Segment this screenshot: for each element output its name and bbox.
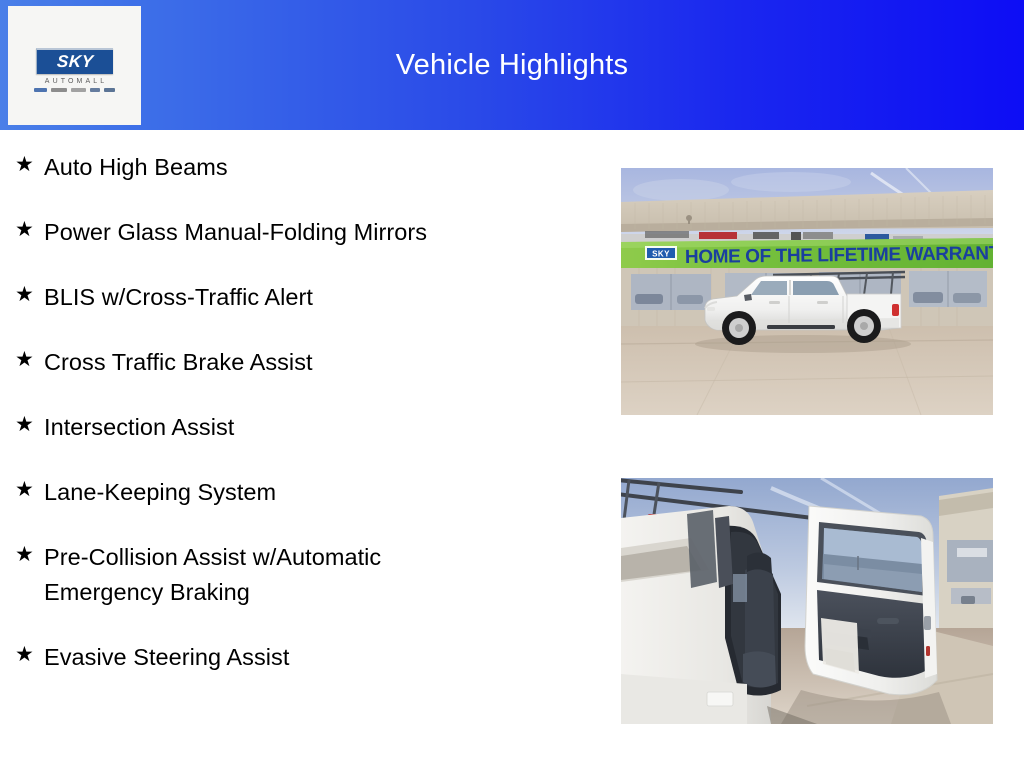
warranty-banner: SKY HOME OF THE LIFETIME WARRANTY bbox=[621, 238, 993, 272]
dodge-logo-icon bbox=[71, 88, 86, 92]
list-item-label: BLIS w/Cross-Traffic Alert bbox=[44, 280, 313, 315]
star-icon: ★ bbox=[10, 540, 44, 569]
sky-badge: SKY bbox=[36, 48, 113, 74]
list-item-label: Evasive Steering Assist bbox=[44, 640, 289, 675]
list-item: ★ Power Glass Manual-Folding Mirrors bbox=[10, 215, 590, 250]
list-item: ★ Evasive Steering Assist bbox=[10, 640, 590, 675]
page-title: Vehicle Highlights bbox=[0, 0, 1024, 130]
list-item-label: Auto High Beams bbox=[44, 150, 228, 185]
list-item: ★ Cross Traffic Brake Assist bbox=[10, 345, 590, 380]
list-item: ★ Auto High Beams bbox=[10, 150, 590, 185]
slide-header: Vehicle Highlights bbox=[0, 0, 1024, 130]
star-icon: ★ bbox=[10, 475, 44, 504]
vehicle-photo-interior-art bbox=[621, 478, 993, 724]
ram-logo-icon bbox=[104, 88, 115, 92]
star-icon: ★ bbox=[10, 150, 44, 179]
svg-text:HOME OF THE LIFETIME WARRANTY: HOME OF THE LIFETIME WARRANTY bbox=[685, 243, 993, 268]
list-item-label: Intersection Assist bbox=[44, 410, 234, 445]
vehicle-highlights-list: ★ Auto High Beams ★ Power Glass Manual-F… bbox=[10, 150, 590, 705]
star-icon: ★ bbox=[10, 215, 44, 244]
jeep-logo-icon bbox=[90, 88, 100, 92]
vehicle-photo-interior bbox=[621, 478, 993, 724]
star-icon: ★ bbox=[10, 345, 44, 374]
slide-root: Vehicle Highlights SKY AUTOMALL ★ Auto H… bbox=[0, 0, 1024, 768]
oem-brand-strip bbox=[34, 88, 115, 92]
list-item: ★ Lane-Keeping System bbox=[10, 475, 590, 510]
vehicle-photo-exterior-art: SKY HOME OF THE LIFETIME WARRANTY bbox=[621, 168, 993, 415]
automall-label: AUTOMALL bbox=[42, 78, 107, 85]
vehicle-photo-exterior: SKY HOME OF THE LIFETIME WARRANTY bbox=[621, 168, 993, 415]
list-item-label: Pre-Collision Assist w/Automatic Emergen… bbox=[44, 540, 381, 610]
svg-text:SKY: SKY bbox=[652, 250, 670, 259]
star-icon: ★ bbox=[10, 410, 44, 439]
list-item: ★ Intersection Assist bbox=[10, 410, 590, 445]
list-item: ★ BLIS w/Cross-Traffic Alert bbox=[10, 280, 590, 315]
list-item-label: Cross Traffic Brake Assist bbox=[44, 345, 313, 380]
open-door bbox=[805, 506, 937, 695]
chrysler-logo-icon bbox=[51, 88, 67, 92]
list-item-label: Lane-Keeping System bbox=[44, 475, 276, 510]
sky-badge-label: SKY bbox=[56, 53, 94, 70]
ford-logo-icon bbox=[34, 88, 47, 92]
star-icon: ★ bbox=[10, 640, 44, 669]
star-icon: ★ bbox=[10, 280, 44, 309]
dealer-logo: SKY AUTOMALL bbox=[8, 6, 141, 125]
dealer-logo-inner: SKY AUTOMALL bbox=[34, 48, 115, 92]
list-item: ★ Pre-Collision Assist w/Automatic Emerg… bbox=[10, 540, 590, 610]
list-item-label: Power Glass Manual-Folding Mirrors bbox=[44, 215, 427, 250]
